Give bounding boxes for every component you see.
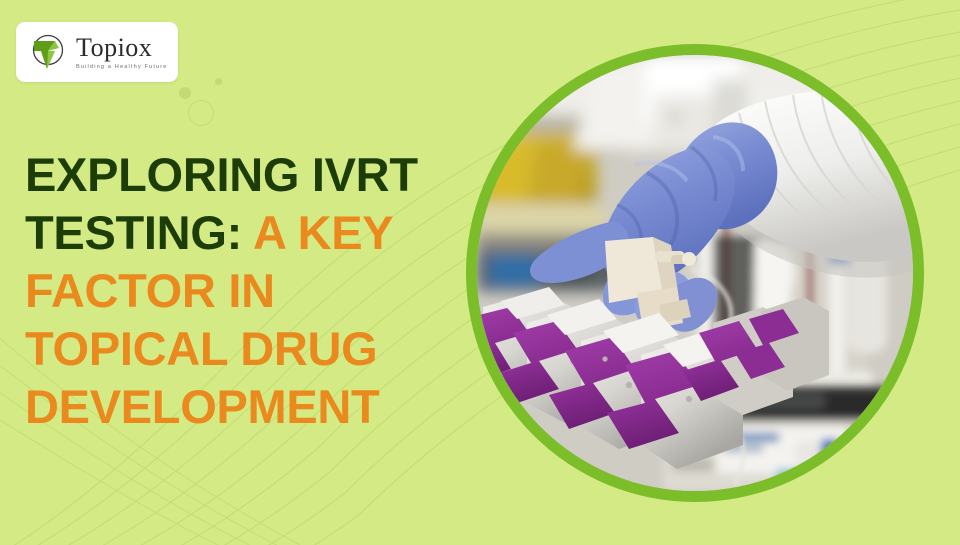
- headline-line-5-text: DEVELOPMENT: [25, 380, 379, 433]
- logo-text-block: Topiox Building a Healthy Future: [76, 35, 168, 70]
- lab-franz-diffusion-cell-photo: [477, 55, 913, 491]
- headline-block: EXPLORING IVRT TESTING: A KEY FACTOR IN …: [25, 146, 445, 436]
- headline-line-2: TESTING: A KEY: [25, 204, 445, 262]
- headline-line-3: FACTOR IN: [25, 262, 445, 320]
- blog-banner: Topiox Building a Healthy Future EXPLORI…: [0, 0, 960, 545]
- headline-line-2-orange-text: A KEY: [253, 206, 393, 259]
- topiox-arrow-circle-mark: [25, 29, 71, 75]
- headline-line-4: TOPICAL DRUG: [25, 320, 445, 378]
- headline-line-4-text: TOPICAL DRUG: [25, 322, 377, 375]
- logo-badge[interactable]: Topiox Building a Healthy Future: [16, 22, 178, 82]
- headline-line-5: DEVELOPMENT: [25, 378, 445, 436]
- headline-line-1-text: EXPLORING IVRT: [25, 148, 418, 201]
- photo-ring-border: [466, 44, 924, 502]
- decorative-dot-small: [215, 78, 222, 85]
- decorative-ring: [188, 100, 214, 126]
- headline-line-1: EXPLORING IVRT: [25, 146, 445, 204]
- logo-tagline: Building a Healthy Future: [76, 64, 168, 70]
- decorative-dot-large: [179, 87, 191, 99]
- headline-line-3-text: FACTOR IN: [25, 264, 275, 317]
- headline-line-2-dark-text: TESTING:: [25, 206, 253, 259]
- logo-brand-name: Topiox: [76, 35, 168, 61]
